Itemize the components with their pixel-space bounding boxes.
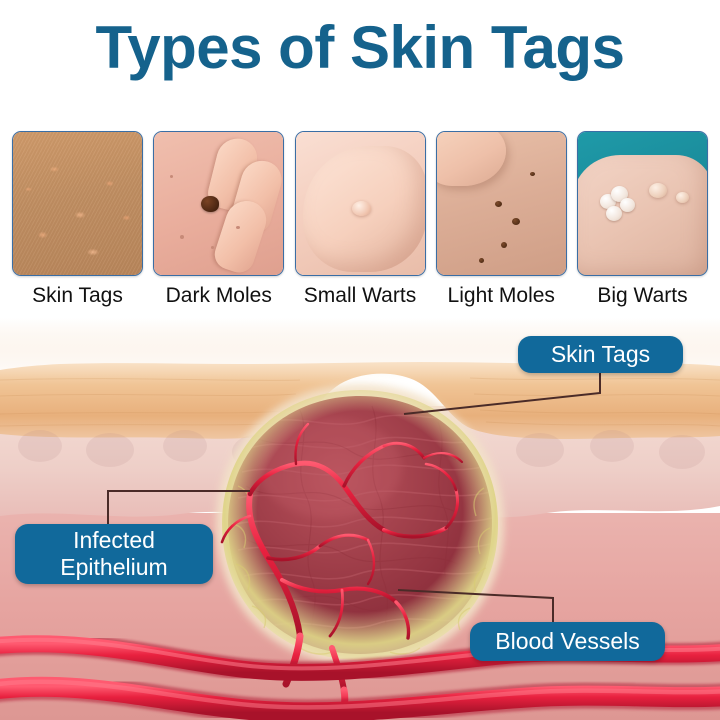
light-moles-photo (437, 132, 566, 275)
page-title: Types of Skin Tags (0, 16, 720, 79)
big-warts-photo (578, 132, 707, 275)
thumbnail-image-big-warts[interactable] (577, 131, 708, 276)
thumbnail-label-dark-moles: Dark Moles (166, 284, 272, 308)
callout-blood-vessels[interactable]: Blood Vessels (470, 622, 665, 661)
small-wart-shape (352, 201, 371, 216)
wart-lobe (606, 206, 622, 221)
skin-spot (180, 235, 184, 239)
thumbnail-item-light-moles[interactable]: Light Moles (435, 131, 568, 311)
tumor-rim (222, 390, 498, 660)
callout-infected-epithelium[interactable]: Infected Epithelium (15, 524, 213, 584)
infographic-root: Types of Skin Tags Skin Tags (0, 0, 720, 720)
hand-shape (577, 155, 708, 276)
thumbnail-image-light-moles[interactable] (436, 131, 567, 276)
small-warts-photo (296, 132, 425, 275)
thumbnail-image-small-warts[interactable] (295, 131, 426, 276)
light-mole-shape (512, 218, 520, 225)
thumbnail-label-skin-tags: Skin Tags (32, 284, 123, 308)
thumbnail-label-small-warts: Small Warts (304, 284, 416, 308)
callout-skin-tags-label: Skin Tags (551, 341, 650, 368)
thumbnail-strip: Skin Tags Dark Moles (11, 131, 709, 311)
light-mole-shape (495, 201, 502, 207)
skin-spot (170, 175, 173, 178)
dark-mole-shape (201, 196, 219, 212)
thumbnail-image-dark-moles[interactable] (153, 131, 284, 276)
thumbnail-label-light-moles: Light Moles (448, 284, 555, 308)
callout-blood-vessels-label: Blood Vessels (495, 628, 639, 655)
thumb-finger-shape (436, 131, 507, 186)
wart-cluster-shape (600, 186, 640, 222)
light-mole-shape (530, 172, 535, 176)
fingers-shape (211, 138, 284, 275)
wart-bump (676, 192, 689, 203)
dark-moles-photo (154, 132, 283, 275)
callout-skin-tags[interactable]: Skin Tags (518, 336, 683, 373)
thumbnail-item-big-warts[interactable]: Big Warts (576, 131, 709, 311)
thumbnail-item-small-warts[interactable]: Small Warts (294, 131, 427, 311)
callout-infected-epithelium-line2: Epithelium (60, 554, 167, 580)
wart-lobe (620, 198, 635, 212)
thumbnail-image-skin-tags[interactable] (12, 131, 143, 276)
thumbnail-label-big-warts: Big Warts (597, 284, 687, 308)
thumbnail-item-skin-tags[interactable]: Skin Tags (11, 131, 144, 311)
callout-infected-epithelium-text: Infected Epithelium (60, 527, 167, 581)
thumbnail-item-dark-moles[interactable]: Dark Moles (152, 131, 285, 311)
light-mole-shape (501, 242, 507, 248)
skin-tags-photo (13, 132, 142, 275)
light-mole-shape (479, 258, 484, 263)
callout-infected-epithelium-line1: Infected (73, 527, 155, 553)
